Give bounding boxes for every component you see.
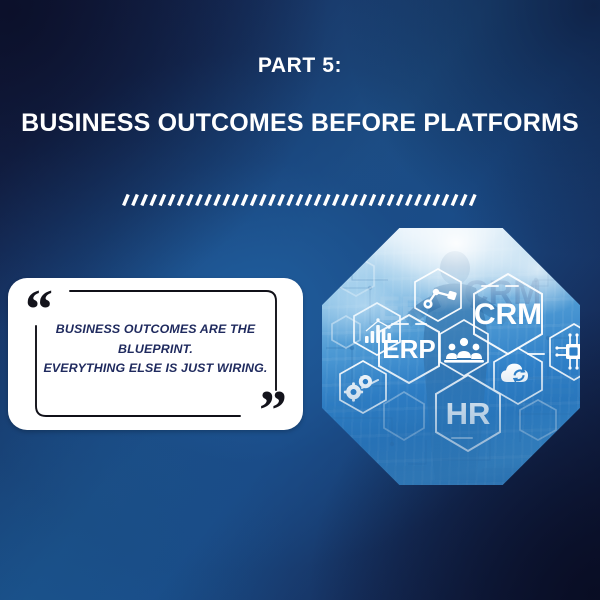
slash-dash bbox=[178, 195, 183, 206]
heading-block: PART 5: BUSINESS OUTCOMES BEFORE PLATFOR… bbox=[0, 0, 600, 136]
slash-dash bbox=[315, 195, 320, 206]
slash-dash bbox=[151, 195, 156, 206]
slash-dash bbox=[434, 195, 439, 206]
slide-canvas: PART 5: BUSINESS OUTCOMES BEFORE PLATFOR… bbox=[0, 0, 600, 600]
slash-dash bbox=[297, 195, 302, 206]
quote-line: BLUEPRINT. bbox=[30, 340, 281, 360]
slash-dash bbox=[379, 195, 384, 206]
image-bottom-shade bbox=[322, 228, 580, 485]
slash-dash bbox=[133, 195, 138, 206]
slash-dash bbox=[306, 195, 311, 206]
slash-dash bbox=[352, 195, 357, 206]
slash-dash bbox=[197, 195, 202, 206]
slash-dash bbox=[251, 195, 256, 206]
slash-dash bbox=[416, 195, 421, 206]
quote-card: “ BUSINESS OUTCOMES ARE THE BLUEPRINT. E… bbox=[8, 278, 303, 430]
slash-dash bbox=[188, 195, 193, 206]
quote-text: BUSINESS OUTCOMES ARE THE BLUEPRINT. EVE… bbox=[30, 320, 281, 379]
quote-line: BUSINESS OUTCOMES ARE THE bbox=[30, 320, 281, 340]
slash-dash bbox=[425, 195, 430, 206]
close-quote-mark: ” bbox=[259, 383, 287, 439]
slash-dash bbox=[343, 195, 348, 206]
slash-dash bbox=[224, 195, 229, 206]
slash-dash bbox=[370, 195, 375, 206]
slash-dash bbox=[443, 195, 448, 206]
slash-dash bbox=[470, 195, 475, 206]
slash-dash bbox=[124, 195, 129, 206]
slash-dash bbox=[206, 195, 211, 206]
slash-dash bbox=[215, 195, 220, 206]
octagon-image: ERP CRM bbox=[322, 228, 580, 485]
slash-dash bbox=[361, 195, 366, 206]
part-label: PART 5: bbox=[0, 55, 600, 76]
slash-dash bbox=[142, 195, 147, 206]
slash-dash bbox=[169, 195, 174, 206]
slash-divider bbox=[122, 190, 478, 210]
slash-dash bbox=[242, 195, 247, 206]
slash-dash bbox=[160, 195, 165, 206]
slash-dash bbox=[324, 195, 329, 206]
slash-dash bbox=[397, 195, 402, 206]
slash-dash bbox=[261, 195, 266, 206]
slash-dash bbox=[388, 195, 393, 206]
slash-dash bbox=[334, 195, 339, 206]
quote-line: EVERYTHING ELSE IS JUST WIRING. bbox=[30, 359, 281, 379]
slash-dash bbox=[288, 195, 293, 206]
slash-dash bbox=[461, 195, 466, 206]
slash-dash bbox=[407, 195, 412, 206]
page-title: BUSINESS OUTCOMES BEFORE PLATFORMS bbox=[0, 111, 600, 136]
slash-dash bbox=[270, 195, 275, 206]
slash-dash bbox=[279, 195, 284, 206]
slash-dash bbox=[452, 195, 457, 206]
slash-dash bbox=[233, 195, 238, 206]
